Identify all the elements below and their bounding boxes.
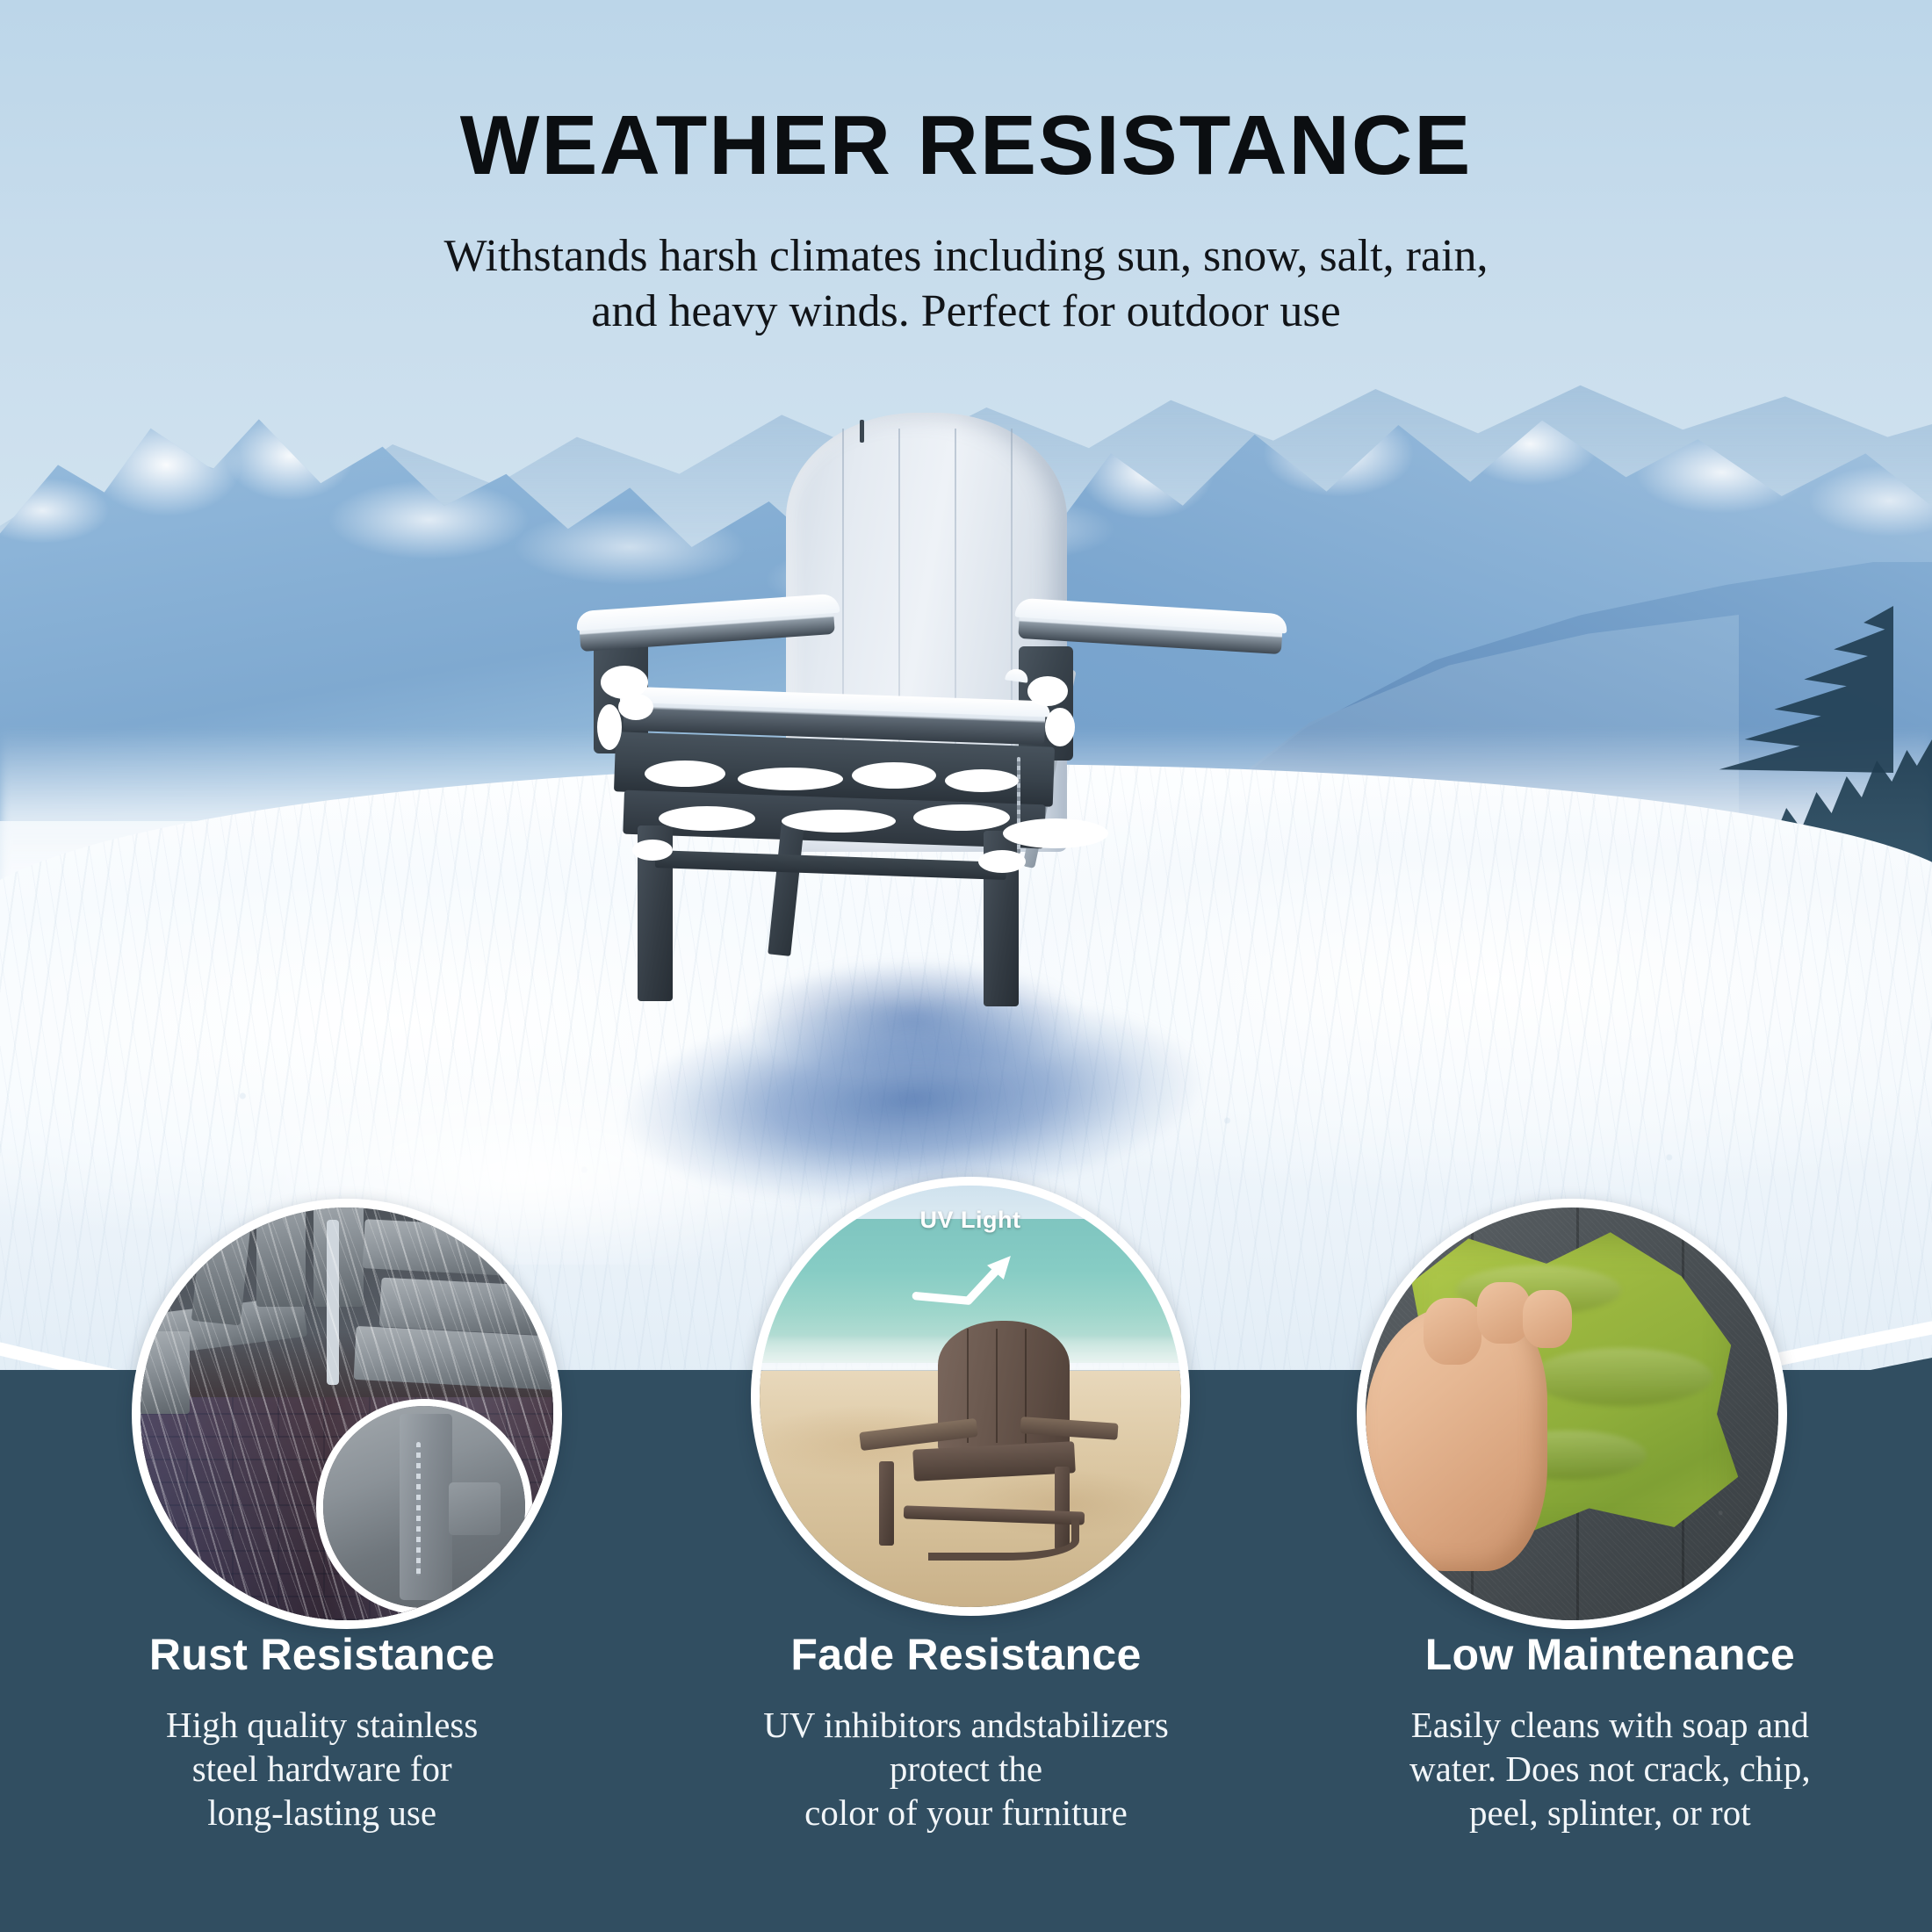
desc-line-1: UV inhibitors andstabilizers: [679, 1703, 1252, 1747]
desc-line-1: Easily cleans with soap and: [1323, 1703, 1897, 1747]
feature-list: Rust Resistance High quality stainless s…: [0, 1629, 1932, 1835]
feature-desc-rust: High quality stainless steel hardware fo…: [35, 1703, 609, 1835]
feature-desc-fade: UV inhibitors andstabilizers protect the…: [679, 1703, 1252, 1835]
subtitle-line-1: Withstands harsh climates including sun,…: [316, 228, 1616, 284]
snow-covered-adirondack-chair: [606, 413, 1273, 1098]
snow-blob: [1027, 676, 1068, 706]
chair-stretcher: [655, 850, 1006, 880]
feature-title-maintenance: Low Maintenance: [1323, 1629, 1897, 1680]
desc-line-2: water. Does not crack, chip,: [1323, 1747, 1897, 1791]
brown-chair-seat: [912, 1442, 1075, 1481]
feature-title-fade: Fade Resistance: [679, 1629, 1252, 1680]
desc-line-3: peel, splinter, or rot: [1323, 1791, 1897, 1835]
desc-line-2: steel hardware for: [35, 1747, 609, 1791]
feature-image-low-maintenance: [1357, 1199, 1787, 1629]
brown-adirondack-chair: [869, 1321, 1114, 1582]
snow-blob: [852, 762, 936, 789]
chair-surface-scene: [1366, 1207, 1778, 1620]
feature-image-rust-resistance: [132, 1199, 562, 1629]
finger: [1523, 1290, 1572, 1348]
beach-scene: UV Light: [760, 1186, 1181, 1607]
feature-fade-resistance: Fade Resistance UV inhibitors andstabili…: [644, 1629, 1287, 1835]
subtitle-line-2: and heavy winds. Perfect for outdoor use: [316, 284, 1616, 339]
chair-back-leg: [768, 823, 804, 956]
snow-blob: [978, 850, 1026, 873]
inset-chair-post: [400, 1414, 452, 1600]
hardware-closeup-inset: [316, 1399, 532, 1615]
snow-blob: [1045, 708, 1075, 746]
snow-blob: [738, 768, 843, 790]
brown-chair-leg-left: [879, 1461, 894, 1545]
chair-back-notch: [860, 420, 864, 443]
arrow-up-right-icon: [912, 1249, 1029, 1308]
inset-bracket: [449, 1482, 501, 1535]
page-subtitle: Withstands harsh climates including sun,…: [316, 228, 1616, 340]
feature-low-maintenance: Low Maintenance Easily cleans with soap …: [1288, 1629, 1932, 1835]
brown-chair-runner: [928, 1519, 1080, 1561]
page-title: WEATHER RESISTANCE: [0, 104, 1932, 188]
desc-line-1: High quality stainless: [35, 1703, 609, 1747]
desc-line-2: protect the: [679, 1747, 1252, 1791]
snow-blob: [618, 694, 653, 720]
rain-scene: [141, 1207, 553, 1620]
stainless-steel-chain-icon: [416, 1442, 421, 1575]
snow-blob: [645, 761, 725, 787]
uv-light-label: UV Light: [760, 1207, 1181, 1234]
snow-blob: [945, 769, 1019, 792]
desc-line-3: color of your furniture: [679, 1791, 1252, 1835]
snow-blob: [632, 840, 673, 861]
feature-title-rust: Rust Resistance: [35, 1629, 609, 1680]
desc-line-3: long-lasting use: [35, 1791, 609, 1835]
snow-blob: [782, 810, 896, 833]
feature-desc-maintenance: Easily cleans with soap and water. Does …: [1323, 1703, 1897, 1835]
finger: [1424, 1298, 1481, 1364]
snow-blob: [913, 804, 1010, 831]
feature-rust-resistance: Rust Resistance High quality stainless s…: [0, 1629, 644, 1835]
snow-blob: [659, 806, 755, 831]
marketing-infographic: WEATHER RESISTANCE Withstands harsh clim…: [0, 0, 1932, 1932]
snow-blob: [597, 704, 622, 750]
snow-blob: [1003, 818, 1108, 848]
feature-image-fade-resistance: UV Light: [751, 1177, 1190, 1616]
